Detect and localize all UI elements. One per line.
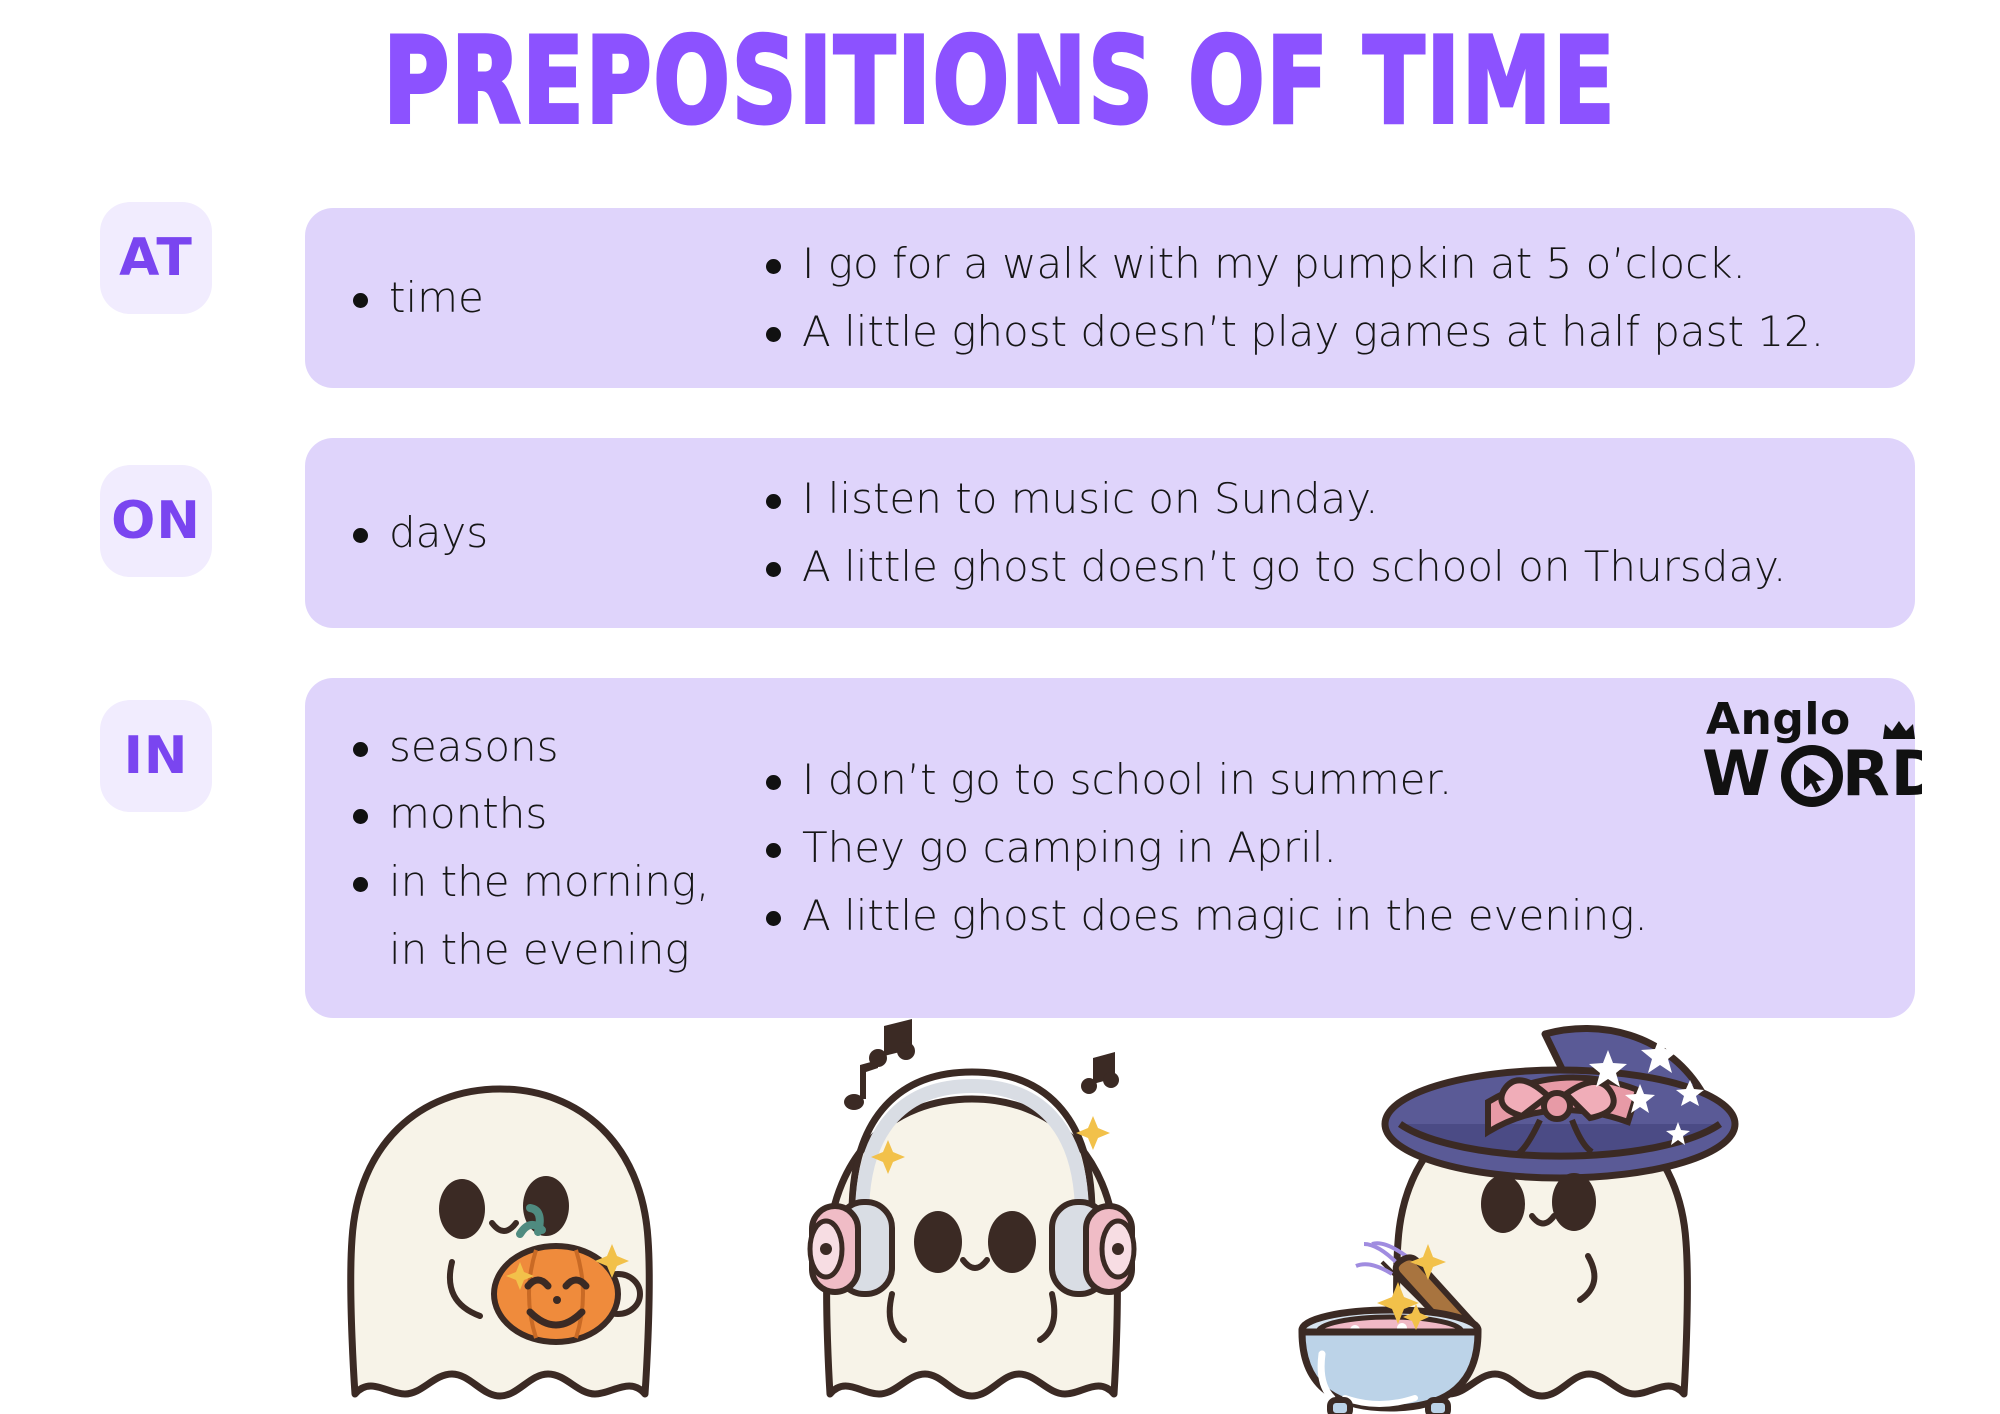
- example-item: I go for a walk with my pumpkin at 5 o’c…: [760, 237, 1915, 291]
- example-item: They go camping in April.: [760, 821, 1915, 875]
- svg-text:RD: RD: [1842, 740, 1922, 810]
- examples-list-at: I go for a walk with my pumpkin at 5 o’c…: [760, 237, 1915, 359]
- music-note-icon: [844, 1060, 878, 1110]
- uses-column-at: time: [305, 208, 760, 388]
- row-band-on: days I listen to music on Sunday. A litt…: [305, 438, 1915, 628]
- anglo-word-logo: Anglo W RD: [1702, 700, 1922, 818]
- uses-column-in: seasons months in the morning, in the ev…: [305, 678, 760, 1018]
- music-note-icon: [1081, 1052, 1119, 1094]
- use-item-continuation: in the evening: [347, 923, 760, 977]
- ghost-illustrations: .gbody{fill:#f7f3e8;stroke:#3b2a24;strok…: [0, 994, 2000, 1414]
- row-band-in: seasons months in the morning, in the ev…: [305, 678, 1915, 1018]
- example-item: I listen to music on Sunday.: [760, 472, 1915, 526]
- witch-ghost-with-cauldron-illustration: [1302, 1029, 1735, 1414]
- svg-text:W: W: [1702, 740, 1771, 810]
- uses-list-at: time: [347, 271, 760, 325]
- use-item: in the morning,: [347, 855, 760, 909]
- headphone-cup-right: [1052, 1202, 1134, 1294]
- ghost-with-headphones-illustration: [810, 1019, 1134, 1396]
- page-title: PREPOSITIONS OF TIME: [0, 22, 2000, 141]
- preposition-chip-at: AT: [100, 202, 212, 314]
- examples-list-on: I listen to music on Sunday. A little gh…: [760, 472, 1915, 594]
- example-item: A little ghost does magic in the evening…: [760, 889, 1915, 943]
- example-item: A little ghost doesn’t go to school on T…: [760, 540, 1915, 594]
- music-note-icon: [869, 1019, 915, 1067]
- uses-list-on: days: [347, 506, 760, 560]
- examples-column-on: I listen to music on Sunday. A little gh…: [760, 438, 1915, 628]
- witch-hat: [1385, 1029, 1735, 1178]
- logo-wordmark: W RD: [1702, 740, 1922, 810]
- use-item: months: [347, 787, 760, 841]
- example-item: A little ghost doesn’t play games at hal…: [760, 305, 1915, 359]
- ghost-with-pumpkin-illustration: [351, 1089, 649, 1396]
- uses-list-in: seasons months in the morning, in the ev…: [347, 720, 760, 977]
- logo-line-word: W RD: [1702, 740, 1922, 817]
- uses-column-on: days: [305, 438, 760, 628]
- preposition-chip-in: IN: [100, 700, 212, 812]
- crown-icon: [1882, 720, 1916, 740]
- use-item: time: [347, 271, 760, 325]
- preposition-chip-on: ON: [100, 465, 212, 577]
- use-item: seasons: [347, 720, 760, 774]
- use-item: days: [347, 506, 760, 560]
- headphone-cup-left: [810, 1202, 892, 1294]
- row-band-at: time I go for a walk with my pumpkin at …: [305, 208, 1915, 388]
- examples-column-at: I go for a walk with my pumpkin at 5 o’c…: [760, 208, 1915, 388]
